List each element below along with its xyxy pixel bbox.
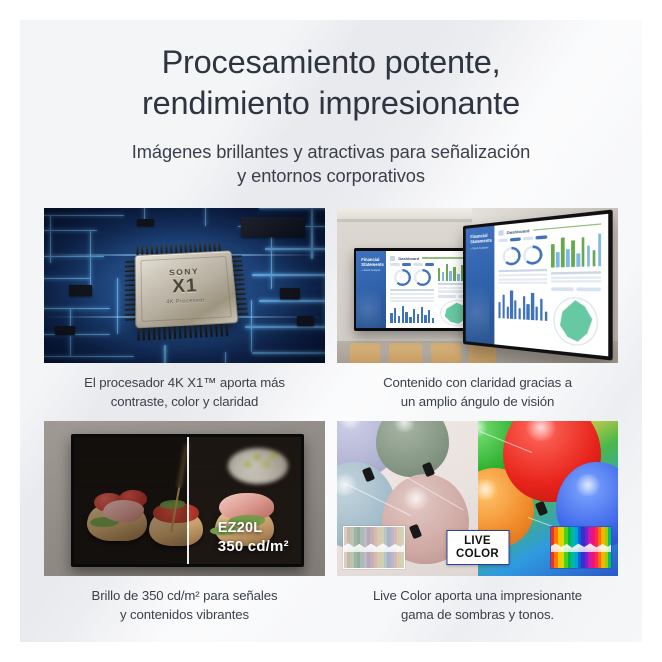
mini-table [390,289,434,302]
mini-table [499,269,548,284]
grid-icon [390,256,395,261]
dashboard-sidebar-subtitle: + Stock Analysis [361,269,381,272]
page-title: Procesamiento potente, rendimiento impre… [44,42,618,125]
viewing-angle-image: Financial Statements + Stock Analysis Da… [337,208,618,363]
feature-card-brightness: EZ20L 350 cd/m² Brillo de 350 cd/m² para… [44,421,325,624]
balloon-knot [534,501,547,516]
donut-chart [524,245,544,265]
live-color-image: LIVE COLOR [337,421,618,576]
live-color-badge-line-2: COLOR [456,548,499,561]
dashboard-header-title: Dashboard [398,256,419,261]
mini-table [552,271,602,283]
page-subtitle: Imágenes brillantes y atractivas para se… [61,140,601,188]
brightness-divider [187,437,189,564]
page-title-line-2: rendimiento impresionante [44,83,618,124]
dashboard-header-title: Dashboard [507,228,530,236]
brightness-overlay-text: EZ20L 350 cd/m² [218,521,289,555]
dashboard-sidebar: Financial Statements + Stock Analysis [466,226,494,344]
brightness-value: 350 cd/m² [218,538,289,555]
caption-processor: El procesador 4K X1™ aporta más contrast… [48,374,321,411]
donut-chart [503,246,521,265]
caption-line-2: y contenidos vibrantes [48,606,321,625]
balloons-comparison: LIVE COLOR [337,421,618,576]
filter-pills [390,263,434,266]
dashboard-sidebar-title: Financial Statements [471,233,490,245]
dashboard-sidebar-subtitle: + Stock Analysis [471,246,490,250]
circuit-board-graphic: SONY X1 4K Processor [44,208,325,363]
feature-card-viewing-angle: Financial Statements + Stock Analysis Da… [337,208,618,411]
header-underline [533,223,601,231]
display-angled-view: Financial Statements + Stock Analysis Da… [463,210,612,360]
bar-chart-green [552,231,602,268]
page-subtitle-line-1: Imágenes brillantes y atractivas para se… [61,140,601,164]
caption-line-1: Contenido con claridad gracias a [341,374,614,393]
donut-charts [390,268,434,287]
dashboard-sidebar: Financial Statements + Stock Analysis [356,251,386,329]
radar-chart [552,296,602,350]
live-color-badge-line-1: LIVE [456,535,499,548]
donut-charts [499,243,548,266]
caption-line-1: El procesador 4K X1™ aporta más [48,374,321,393]
feature-card-processor: SONY X1 4K Processor El procesador 4K X1… [44,208,325,411]
dashboard-screen: Financial Statements + Stock Analysis Da… [356,251,480,329]
dashboard-main: Dashboard [494,214,608,356]
caption-brightness: Brillo de 350 cd/m² para señales y conte… [48,587,321,624]
display-bezel: EZ20L 350 cd/m² [71,434,305,567]
food-photo: EZ20L 350 cd/m² [74,437,302,564]
processor-image: SONY X1 4K Processor [44,208,325,363]
feature-grid: SONY X1 4K Processor El procesador 4K X1… [44,208,618,625]
dashboard-screen-angled: Financial Statements + Stock Analysis Da… [466,214,608,356]
page-title-line-1: Procesamiento potente, [44,42,618,83]
color-pencils-after [550,526,612,568]
brightness-image: EZ20L 350 cd/m² [44,421,325,576]
page-subtitle-line-2: y entornos corporativos [61,164,601,188]
caption-line-1: Brillo de 350 cd/m² para señales [48,587,321,606]
promo-page: Procesamiento potente, rendimiento impre… [20,20,642,642]
caption-line-2: contraste, color y claridad [48,393,321,412]
bar-chart-blue [390,305,434,323]
caption-line-2: un amplio ángulo de visión [341,393,614,412]
caption-live-color: Live Color aporta una impresionante gama… [341,587,614,624]
model-label: EZ20L [218,521,289,536]
dim-half-overlay [74,437,188,564]
vignette [44,208,325,363]
caption-line-1: Live Color aporta una impresionante [341,587,614,606]
hero-section: Procesamiento potente, rendimiento impre… [20,20,642,188]
caption-line-2: gama de sombras y tonos. [341,606,614,625]
feature-card-live-color: LIVE COLOR Live Color aporta una impresi… [337,421,618,624]
live-color-badge: LIVE COLOR [446,530,509,566]
donut-chart [414,269,431,286]
dashboard-sidebar-title: Financial Statements [361,257,381,268]
wall-background: EZ20L 350 cd/m² [44,421,325,576]
donut-chart [394,269,411,286]
grid-icon [499,230,504,236]
caption-viewing-angle: Contenido con claridad gracias a un ampl… [341,374,614,411]
color-pencils-before [343,526,405,568]
bar-chart-blue [499,289,548,322]
conference-room-graphic: Financial Statements + Stock Analysis Da… [337,208,618,363]
balloon [376,421,449,477]
